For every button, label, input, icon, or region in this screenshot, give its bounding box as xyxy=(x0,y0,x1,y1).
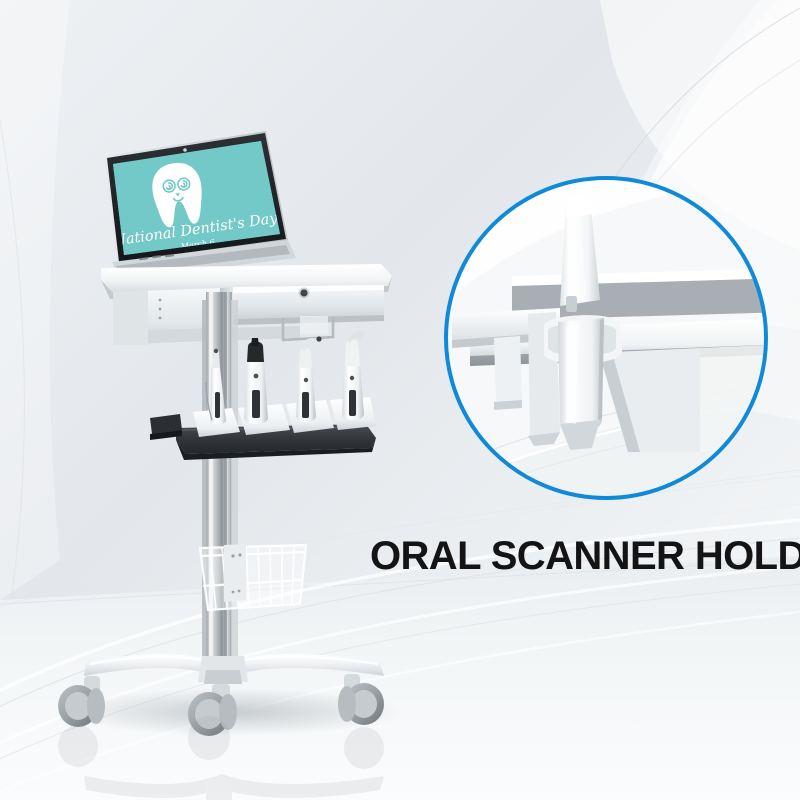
page-title: ORAL SCANNER HOLDER xyxy=(370,536,790,576)
zoom-detail-callout xyxy=(0,0,800,800)
product-banner: National Dentist's Day March 6 xyxy=(0,0,800,800)
